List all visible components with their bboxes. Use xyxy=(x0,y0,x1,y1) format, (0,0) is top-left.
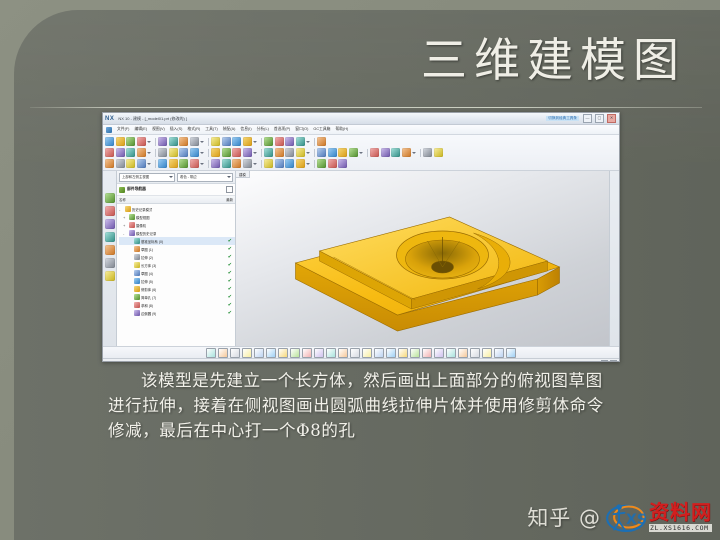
datum-plane-icon[interactable] xyxy=(116,148,125,157)
system-materials-icon[interactable] xyxy=(105,271,115,281)
menu-item-preferences[interactable]: 首选项(P) xyxy=(274,127,290,132)
analysis-icon[interactable] xyxy=(285,159,294,168)
extend-icon[interactable] xyxy=(410,348,420,358)
wcs-icon[interactable] xyxy=(317,159,326,168)
toolbar-separator xyxy=(314,149,315,157)
tree-item[interactable]: -模型历史记录 xyxy=(119,229,235,237)
hole-icon[interactable] xyxy=(211,148,220,157)
chevron-down-icon[interactable] xyxy=(359,152,363,154)
tree-item-label: 求和 (8) xyxy=(141,303,153,308)
menu-item-edit[interactable]: 编辑(E) xyxy=(134,127,147,132)
navigator-title: 部件导航器 xyxy=(127,187,146,192)
nx-main-body: 上部和左侧主视图 着色 - 带边 部件导航器 名称 最新 xyxy=(103,171,619,346)
measure-distance-icon[interactable] xyxy=(264,159,273,168)
tree-item[interactable]: +模型视图 xyxy=(119,213,235,221)
close-button[interactable]: ✕ xyxy=(607,114,616,123)
curve-toolbar[interactable] xyxy=(105,158,617,169)
nx-application-window[interactable]: NX NX 10 - 建模 - [_model01.prt (修改的) ] 切换… xyxy=(102,112,620,362)
nx-logo-icon: NX xyxy=(105,116,114,122)
tree-expander-icon[interactable]: + xyxy=(123,223,127,228)
tree-expander-icon[interactable]: + xyxy=(123,215,127,220)
block-icon xyxy=(134,262,140,268)
subtract-icon[interactable] xyxy=(296,148,305,157)
status-message: 选择对象并使用 MB3，或者双击某一对象 xyxy=(105,361,167,362)
edge-blend-icon xyxy=(134,310,140,316)
bridge-curve-icon[interactable] xyxy=(222,159,231,168)
chevron-down-icon[interactable] xyxy=(253,152,257,154)
menu-item-assemblies[interactable]: 装配(A) xyxy=(223,127,236,132)
pocket-icon[interactable] xyxy=(232,148,241,157)
chevron-down-icon[interactable] xyxy=(306,163,310,165)
tree-item[interactable]: 边倒圆 (9)✔ xyxy=(119,309,235,317)
chamfer-icon[interactable] xyxy=(290,348,300,358)
up-to-date-check-icon: ✔ xyxy=(228,239,232,244)
line-icon[interactable] xyxy=(242,348,252,358)
nx-status-bar: 选择对象并使用 MB3，或者双击某一对象 * 转换/更新至新版本 xyxy=(103,358,619,362)
svg-text:XS: XS xyxy=(626,512,647,528)
toolbar-separator xyxy=(208,160,209,168)
fillet-icon[interactable] xyxy=(278,348,288,358)
feature-tree[interactable]: -历史记录模式+模型视图+摄像机-模型历史记录基准坐标系 (0)✔草图 (1)✔… xyxy=(117,204,235,346)
ellipse-icon[interactable] xyxy=(158,159,167,168)
copy-icon[interactable] xyxy=(158,137,167,146)
right-scroll-rail[interactable] xyxy=(609,171,619,346)
shell-icon[interactable] xyxy=(381,148,390,157)
pattern-icon[interactable] xyxy=(391,148,400,157)
extrude-icon xyxy=(134,278,140,284)
window-controls[interactable]: — ▢ ✕ xyxy=(583,114,616,123)
chevron-down-icon[interactable] xyxy=(306,152,310,154)
snap-icon[interactable] xyxy=(601,360,608,362)
block-icon[interactable] xyxy=(158,148,167,157)
tree-item[interactable]: 简单孔 (7)✔ xyxy=(119,293,235,301)
cylinder-icon[interactable] xyxy=(169,148,178,157)
section-icon[interactable] xyxy=(296,137,305,146)
sketch-icon[interactable] xyxy=(105,148,114,157)
slide-caption: 该模型是先建立一个长方体，然后画出上面部分的俯视图草图进行拉伸，接着在侧视图画出… xyxy=(108,368,608,443)
column-header-uptodate[interactable]: 最新 xyxy=(226,197,233,202)
chamfer-icon[interactable] xyxy=(349,148,358,157)
title-divider xyxy=(30,107,702,108)
quick-trim-icon[interactable] xyxy=(422,348,432,358)
up-to-date-check-icon: ✔ xyxy=(228,279,232,284)
tree-item-label: 拉伸 (5) xyxy=(141,279,153,284)
hole-icon xyxy=(134,294,140,300)
tree-item[interactable]: -历史记录模式 xyxy=(119,205,235,213)
window-layout-icon[interactable] xyxy=(243,137,252,146)
navigator-column-headers[interactable]: 名称 最新 xyxy=(117,196,235,204)
chevron-down-icon[interactable] xyxy=(306,141,310,143)
tree-item-label: 长方体 (3) xyxy=(141,263,156,268)
toolbar-separator xyxy=(314,160,315,168)
cut-icon[interactable] xyxy=(137,137,146,146)
point-icon[interactable] xyxy=(179,159,188,168)
arc-icon[interactable] xyxy=(116,159,125,168)
datum-csys-icon xyxy=(134,238,140,244)
trim-icon[interactable] xyxy=(398,348,408,358)
nx-menu-bar[interactable]: 文件(F) 编辑(E) 视图(V) 插入(S) 格式(R) 工具(T) 装配(A… xyxy=(103,125,619,135)
nx-classic-toolbar-badge[interactable]: 切换到经典工具条 xyxy=(546,116,579,121)
reuse-library-icon[interactable] xyxy=(105,219,115,229)
watermark-site-name: 资料网 xyxy=(649,502,712,522)
nx-toolbar-area[interactable] xyxy=(103,135,619,171)
assembly-navigator-icon[interactable] xyxy=(105,193,115,203)
unite-icon xyxy=(134,302,140,308)
slot-icon[interactable] xyxy=(264,148,273,157)
thicken-icon[interactable] xyxy=(434,148,443,157)
chevron-down-icon[interactable] xyxy=(200,141,204,143)
part-navigator-icon[interactable] xyxy=(105,206,115,216)
spline-icon[interactable] xyxy=(137,159,146,168)
chevron-down-icon[interactable] xyxy=(169,176,173,178)
tree-item-label: 摄像机 xyxy=(136,223,146,228)
watermark-text-block: 资料网 ZL.XS1616.COM xyxy=(649,502,712,532)
chevron-down-icon[interactable] xyxy=(253,163,257,165)
history-mode-icon xyxy=(125,206,131,212)
up-to-date-check-icon: ✔ xyxy=(228,295,232,300)
menu-item-view[interactable]: 视图(V) xyxy=(152,127,165,132)
revolve-icon[interactable] xyxy=(137,148,146,157)
tree-item-label: 修剪体 (6) xyxy=(141,287,156,292)
page-title: 三维建模图 xyxy=(421,34,686,86)
watermark-zhihu-text: 知乎 @ xyxy=(527,502,601,532)
feature-toolbar[interactable] xyxy=(105,147,617,158)
profile-icon[interactable] xyxy=(230,348,240,358)
graphics-viewport[interactable]: 建模 xyxy=(236,171,609,346)
tree-item-label: 模型视图 xyxy=(136,215,150,220)
trim-body-icon xyxy=(134,286,140,292)
presentation-slide: 三维建模图 NX NX 10 - 建模 - [_model01.prt (修改的… xyxy=(0,0,720,540)
roles-icon[interactable] xyxy=(105,258,115,268)
toolbar-separator xyxy=(155,160,156,168)
paste-icon[interactable] xyxy=(169,137,178,146)
menu-item-tools[interactable]: 工具(T) xyxy=(205,127,217,132)
make-corner-icon[interactable] xyxy=(434,348,444,358)
undo-icon[interactable] xyxy=(179,137,188,146)
toolbar-separator xyxy=(261,138,262,146)
draft-icon[interactable] xyxy=(370,148,379,157)
finish-sketch-icon[interactable] xyxy=(506,348,516,358)
toolbar-separator xyxy=(155,138,156,146)
new-file-icon[interactable] xyxy=(105,137,114,146)
chevron-down-icon[interactable] xyxy=(147,163,151,165)
project-curve-icon[interactable] xyxy=(232,159,241,168)
move-object-icon[interactable] xyxy=(296,159,305,168)
trim-body-icon[interactable] xyxy=(328,148,337,157)
history-icon[interactable] xyxy=(105,232,115,242)
tree-item[interactable]: 求和 (8)✔ xyxy=(119,301,235,309)
nx-window-title: NX 10 - 建模 - [_model01.prt (修改的) ] xyxy=(118,116,546,122)
watermark-site-url: ZL.XS1616.COM xyxy=(649,524,712,532)
menu-item-analysis[interactable]: 分析(L) xyxy=(257,127,269,132)
tree-expander-icon[interactable]: - xyxy=(119,207,123,212)
up-to-date-check-icon: ✔ xyxy=(228,247,232,252)
command-finder-icon[interactable] xyxy=(232,137,241,146)
offset-curve-icon[interactable] xyxy=(362,348,372,358)
status-right-icons[interactable] xyxy=(601,360,617,362)
navigator-combo-row[interactable]: 上部和左侧主视图 着色 - 带边 xyxy=(117,171,235,184)
tree-item[interactable]: 基准坐标系 (0)✔ xyxy=(119,237,235,245)
mirror-icon[interactable] xyxy=(402,148,411,157)
chevron-down-icon[interactable] xyxy=(412,152,416,154)
circle-icon[interactable] xyxy=(126,159,135,168)
toolbar-separator xyxy=(314,138,315,146)
tree-item[interactable]: 草图 (1)✔ xyxy=(119,245,235,253)
toolbar-separator xyxy=(420,149,421,157)
resource-bar[interactable] xyxy=(103,171,117,346)
sketch-icon xyxy=(134,270,140,276)
menu-item-information[interactable]: 信息(I) xyxy=(240,127,251,132)
cad-model-3d-part[interactable] xyxy=(236,171,609,346)
status-center-message: * 转换/更新至新版本 xyxy=(167,361,601,362)
tree-item-label: 简单孔 (7) xyxy=(141,295,156,300)
render-style-icon[interactable] xyxy=(264,137,273,146)
toolbar-separator xyxy=(367,149,368,157)
up-to-date-check-icon: ✔ xyxy=(228,287,232,292)
view-layout-combo[interactable]: 上部和左侧主视图 xyxy=(119,173,175,182)
circle-icon[interactable] xyxy=(266,348,276,358)
cone-icon[interactable] xyxy=(179,148,188,157)
menu-item-format[interactable]: 格式(R) xyxy=(187,127,200,132)
up-to-date-check-icon: ✔ xyxy=(228,255,232,260)
extrude-icon xyxy=(134,254,140,260)
chevron-down-icon[interactable] xyxy=(200,163,204,165)
tree-item-label: 模型历史记录 xyxy=(136,231,156,236)
plot-icon[interactable] xyxy=(222,137,231,146)
xs-swirl-icon: XS xyxy=(605,500,647,534)
point-icon[interactable] xyxy=(350,348,360,358)
print-icon[interactable] xyxy=(211,137,220,146)
extrude-icon[interactable] xyxy=(126,148,135,157)
up-to-date-check-icon: ✔ xyxy=(228,303,232,308)
studio-spline-icon[interactable] xyxy=(326,348,336,358)
menu-item-gc-toolkit[interactable]: GC工具箱 xyxy=(313,127,330,132)
menu-item-file[interactable]: 文件(F) xyxy=(117,127,129,132)
display-icon[interactable] xyxy=(317,137,326,146)
mirror-curve-icon[interactable] xyxy=(374,348,384,358)
menu-item-window[interactable]: 窗口(O) xyxy=(295,127,308,132)
helix-icon[interactable] xyxy=(169,159,178,168)
intersect-icon[interactable] xyxy=(317,148,326,157)
menu-item-insert[interactable]: 插入(S) xyxy=(170,127,183,132)
nx-title-bar[interactable]: NX NX 10 - 建模 - [_model01.prt (修改的) ] 切换… xyxy=(103,113,619,125)
standard-toolbar[interactable] xyxy=(105,136,617,147)
save-icon[interactable] xyxy=(126,137,135,146)
redo-icon[interactable] xyxy=(190,137,199,146)
sketch-icon xyxy=(134,246,140,252)
application-menu-icon[interactable] xyxy=(106,127,112,133)
relations-browser-icon[interactable] xyxy=(494,348,504,358)
info-icon[interactable] xyxy=(610,360,617,362)
animate-dimension-icon[interactable] xyxy=(470,348,480,358)
model-history-icon xyxy=(129,230,135,236)
display-constraints-icon[interactable] xyxy=(482,348,492,358)
edge-blend-icon[interactable] xyxy=(338,148,347,157)
model-views-icon xyxy=(129,214,135,220)
tree-item-label: 基准坐标系 (0) xyxy=(141,239,163,244)
toolbar-separator xyxy=(261,160,262,168)
offset-curve-icon[interactable] xyxy=(211,159,220,168)
title-area: 三维建模图 xyxy=(0,34,706,86)
maximize-button[interactable]: ▢ xyxy=(595,114,604,123)
render-style-combo-value: 着色 - 带边 xyxy=(180,175,197,179)
toolbar-separator xyxy=(208,138,209,146)
tree-item-label: 边倒圆 (9) xyxy=(141,311,156,316)
intersection-curve-icon[interactable] xyxy=(243,159,252,168)
tree-item-label: 历史记录模式 xyxy=(132,207,152,212)
tree-item[interactable]: +摄像机 xyxy=(119,221,235,229)
sketch-icon[interactable] xyxy=(218,348,228,358)
tree-item[interactable]: 草图 (4)✔ xyxy=(119,269,235,277)
view-layout-combo-value: 上部和左侧主视图 xyxy=(122,175,149,179)
offset-icon[interactable] xyxy=(423,148,432,157)
watermark-logo: XS 资料网 ZL.XS1616.COM xyxy=(605,500,712,534)
toolbar-separator xyxy=(261,149,262,157)
tree-item[interactable]: 修剪体 (6)✔ xyxy=(119,285,235,293)
dimension-icon[interactable] xyxy=(458,348,468,358)
tree-item-label: 拉伸 (2) xyxy=(141,255,153,260)
minimize-button[interactable]: — xyxy=(583,114,592,123)
open-file-icon[interactable] xyxy=(116,137,125,146)
layer-settings-icon[interactable] xyxy=(328,159,337,168)
up-to-date-check-icon: ✔ xyxy=(228,311,232,316)
unite-icon[interactable] xyxy=(285,148,294,157)
chevron-down-icon[interactable] xyxy=(147,141,151,143)
pin-icon[interactable] xyxy=(226,186,233,193)
sketch-curve-toolbar[interactable] xyxy=(103,346,619,358)
chevron-down-icon[interactable] xyxy=(147,152,151,154)
text-curve-icon[interactable] xyxy=(190,159,199,168)
measure-angle-icon[interactable] xyxy=(275,159,284,168)
tree-item[interactable]: 拉伸 (2)✔ xyxy=(119,253,235,261)
select-icon[interactable] xyxy=(206,348,216,358)
arc-icon[interactable] xyxy=(254,348,264,358)
tree-item[interactable]: 长方体 (3)✔ xyxy=(119,261,235,269)
column-header-name[interactable]: 名称 xyxy=(119,197,226,202)
tree-item-label: 草图 (4) xyxy=(141,271,153,276)
watermark: 知乎 @ XS 资料网 ZL.XS1616.COM xyxy=(527,500,712,534)
toolbar-separator xyxy=(155,149,156,157)
tree-expander-icon[interactable]: - xyxy=(123,231,127,236)
render-style-combo[interactable]: 着色 - 带边 xyxy=(177,173,233,182)
cameras-icon xyxy=(129,222,135,228)
rectangle-icon[interactable] xyxy=(302,348,312,358)
shaded-icon[interactable] xyxy=(275,137,284,146)
sphere-icon[interactable] xyxy=(190,148,199,157)
toolbar-separator xyxy=(208,149,209,157)
web-browser-icon[interactable] xyxy=(105,245,115,255)
wireframe-icon[interactable] xyxy=(285,137,294,146)
part-navigator-panel[interactable]: 上部和左侧主视图 着色 - 带边 部件导航器 名称 最新 xyxy=(117,171,236,346)
polygon-icon[interactable] xyxy=(314,348,324,358)
pattern-curve-icon[interactable] xyxy=(386,348,396,358)
ellipse-icon[interactable] xyxy=(338,348,348,358)
chevron-down-icon[interactable] xyxy=(253,141,257,143)
boss-icon[interactable] xyxy=(222,148,231,157)
chevron-down-icon[interactable] xyxy=(227,176,231,178)
up-to-date-check-icon: ✔ xyxy=(228,263,232,268)
tree-item[interactable]: 拉伸 (5)✔ xyxy=(119,277,235,285)
navigator-header: 部件导航器 xyxy=(117,184,235,196)
part-navigator-icon xyxy=(119,187,125,193)
pad-icon[interactable] xyxy=(243,148,252,157)
chevron-down-icon[interactable] xyxy=(200,152,204,154)
up-to-date-check-icon: ✔ xyxy=(228,271,232,276)
constraint-icon[interactable] xyxy=(446,348,456,358)
menu-item-help[interactable]: 帮助(H) xyxy=(335,127,348,132)
line-icon[interactable] xyxy=(105,159,114,168)
utility-icon[interactable] xyxy=(338,159,347,168)
tree-item-label: 草图 (1) xyxy=(141,247,153,252)
groove-icon[interactable] xyxy=(275,148,284,157)
